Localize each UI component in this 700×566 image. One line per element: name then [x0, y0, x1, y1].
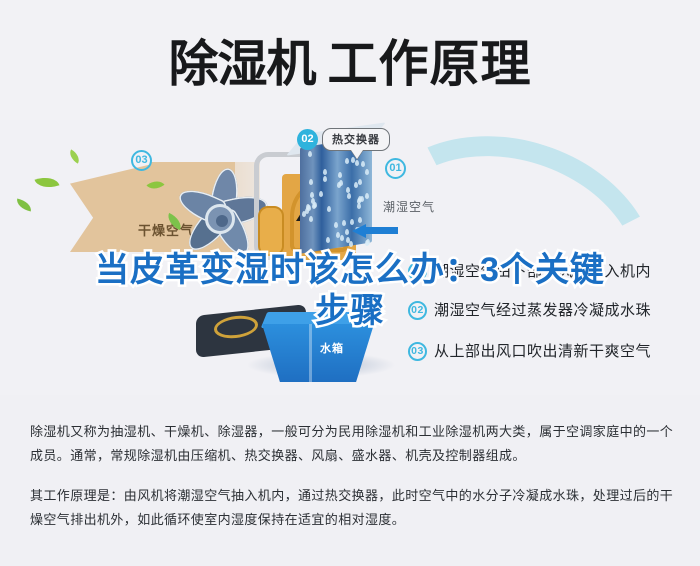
article-body: 除湿机又称为抽湿机、干燥机、除湿器，一般可分为民用除湿机和工业除湿机两大类，属于… — [30, 420, 675, 532]
leaf-icon — [15, 198, 33, 211]
arrow-head — [352, 224, 366, 238]
water-droplet-icon — [340, 235, 344, 241]
leaf-icon — [67, 149, 83, 163]
header-banner: 除湿机工作原理 — [0, 0, 700, 128]
water-droplet-icon — [312, 203, 316, 209]
body-paragraph-1: 除湿机又称为抽湿机、干燥机、除湿器，一般可分为民用除湿机和工业除湿机两大类，属于… — [30, 420, 675, 468]
leaf-icon — [35, 173, 60, 192]
water-droplet-icon — [345, 229, 349, 235]
water-droplet-icon — [326, 237, 330, 243]
water-droplet-icon — [308, 151, 312, 157]
overlay-headline: 当皮革变湿时该怎么办：3个关键步骤 — [0, 250, 700, 332]
arrow-shaft — [364, 227, 398, 234]
water-droplet-icon — [338, 172, 342, 178]
water-droplet-icon — [323, 176, 327, 182]
page-title: 除湿机工作原理 — [0, 34, 700, 94]
water-droplet-icon — [358, 217, 362, 223]
water-droplet-icon — [365, 240, 369, 246]
water-droplet-icon — [334, 222, 338, 228]
heat-exchanger-callout: 热交换器 — [322, 128, 390, 151]
water-droplet-icon — [365, 169, 369, 175]
page-title-part2: 工作原理 — [328, 36, 532, 92]
step-badge: 03 — [408, 342, 427, 361]
water-droplet-icon — [310, 192, 314, 198]
humid-air-inlet-arrow-icon — [352, 224, 398, 236]
water-droplet-icon — [361, 161, 365, 167]
water-droplet-icon — [309, 216, 313, 222]
water-tank-body — [262, 324, 374, 382]
water-droplet-icon — [342, 220, 346, 226]
water-droplet-icon — [358, 179, 362, 185]
badge-03-dry-air: 03 — [131, 150, 152, 171]
water-droplet-icon — [360, 196, 364, 202]
humid-air-label: 潮湿空气 — [383, 198, 435, 215]
water-droplet-icon — [347, 193, 351, 199]
body-paragraph-2: 其工作原理是：由风机将潮湿空气抽入机内，通过热交换器，此时空气中的水分子冷凝成水… — [30, 484, 675, 532]
water-droplet-icon — [349, 241, 353, 247]
badge-02-heat-exchanger: 02 — [297, 129, 318, 150]
compressor-cylinder-icon — [258, 206, 284, 256]
water-droplet-icon — [309, 179, 313, 185]
badge-01-humid-inlet: 01 — [385, 158, 406, 179]
fan-hub-icon — [205, 204, 235, 234]
water-droplet-icon — [357, 203, 361, 209]
water-droplet-icon — [345, 158, 349, 164]
step-text: 从上部出风口吹出清新干爽空气 — [434, 343, 651, 360]
water-droplet-icon — [339, 180, 343, 186]
step-line-03: 03从上部出风口吹出清新干爽空气 — [408, 340, 651, 361]
water-droplet-icon — [365, 193, 369, 199]
water-droplet-icon — [323, 169, 327, 175]
page-title-part1: 除湿机 — [169, 36, 316, 92]
water-droplet-icon — [336, 232, 340, 238]
water-tank-label: 水箱 — [320, 340, 344, 356]
water-droplet-icon — [355, 160, 359, 166]
water-droplet-icon — [319, 191, 323, 197]
water-droplet-icon — [327, 206, 331, 212]
